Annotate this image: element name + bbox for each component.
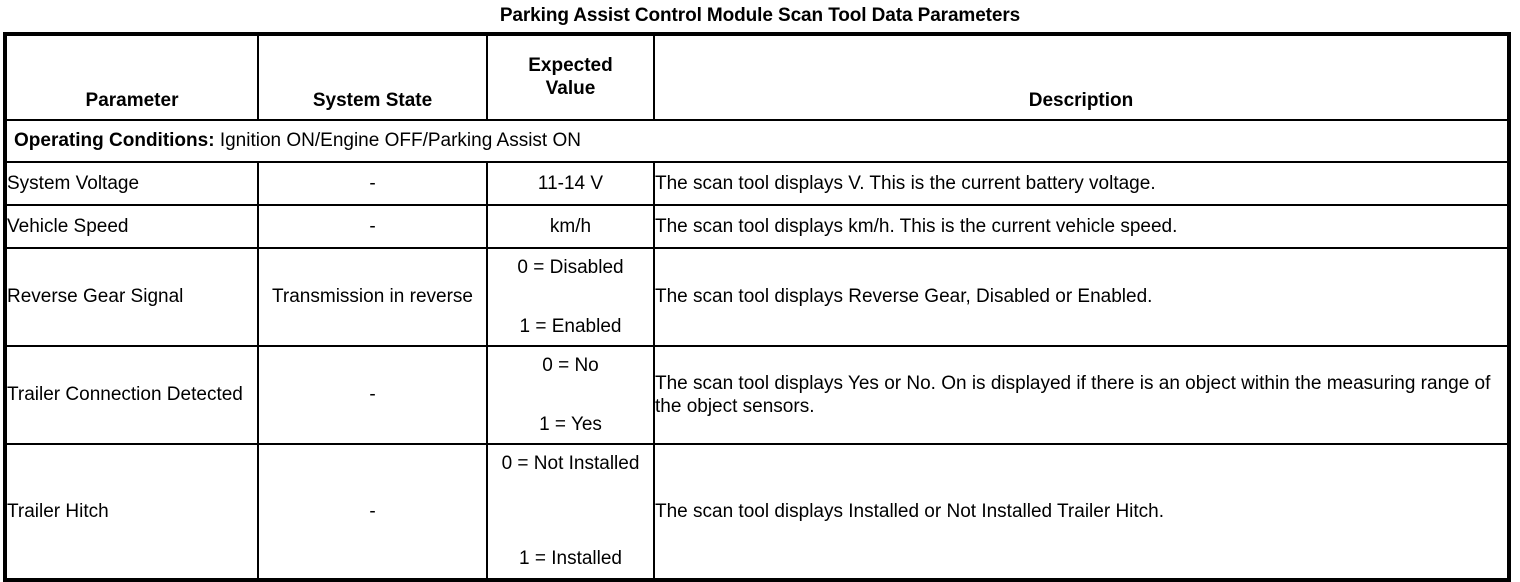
row-expected-value: 0 = Disabled 1 = Enabled (487, 248, 654, 346)
row-parameter: System Voltage (5, 162, 258, 205)
row-parameter: Trailer Hitch (5, 444, 258, 580)
scan-tool-data-parameters-table: Parameter System State Expected Value De… (3, 32, 1511, 582)
row-expected-value: 11-14 V (487, 162, 654, 205)
column-header-expected-value: Expected Value (487, 34, 654, 120)
row-expected-value-bottom: 1 = Yes (490, 413, 651, 436)
row-expected-value-top: 0 = No (490, 354, 651, 377)
row-expected-value: 0 = Not Installed 1 = Installed (487, 444, 654, 580)
row-expected-value-bottom: 1 = Installed (490, 547, 651, 570)
table-header-row: Parameter System State Expected Value De… (5, 34, 1509, 120)
column-header-parameter: Parameter (5, 34, 258, 120)
table-row: Trailer Hitch - 0 = Not Installed 1 = In… (5, 444, 1509, 580)
table-row: Trailer Connection Detected - 0 = No 1 =… (5, 346, 1509, 444)
row-system-state: - (258, 346, 487, 444)
table-row: System Voltage - 11-14 V The scan tool d… (5, 162, 1509, 205)
row-system-state: Transmission in reverse (258, 248, 487, 346)
row-expected-value: 0 = No 1 = Yes (487, 346, 654, 444)
row-expected-value-top: 0 = Not Installed (490, 452, 651, 475)
operating-conditions-cell: Operating Conditions: Ignition ON/Engine… (5, 120, 1509, 162)
document-page: Parking Assist Control Module Scan Tool … (0, 0, 1520, 574)
row-expected-value-bottom: 1 = Enabled (490, 315, 651, 338)
row-parameter: Reverse Gear Signal (5, 248, 258, 346)
row-description: The scan tool displays Installed or Not … (654, 444, 1509, 580)
row-expected-value: km/h (487, 205, 654, 248)
column-header-system-state: System State (258, 34, 487, 120)
operating-conditions-row: Operating Conditions: Ignition ON/Engine… (5, 120, 1509, 162)
row-system-state: - (258, 205, 487, 248)
row-expected-value-top: 0 = Disabled (490, 256, 651, 279)
table-row: Reverse Gear Signal Transmission in reve… (5, 248, 1509, 346)
row-description: The scan tool displays km/h. This is the… (654, 205, 1509, 248)
page-title: Parking Assist Control Module Scan Tool … (0, 0, 1520, 25)
column-header-expected-value-line1: Expected (528, 55, 612, 76)
row-description: The scan tool displays Reverse Gear, Dis… (654, 248, 1509, 346)
row-description: The scan tool displays Yes or No. On is … (654, 346, 1509, 444)
operating-conditions-value: Ignition ON/Engine OFF/Parking Assist ON (220, 130, 581, 151)
table-row: Vehicle Speed - km/h The scan tool displ… (5, 205, 1509, 248)
column-header-description: Description (654, 34, 1509, 120)
row-system-state: - (258, 162, 487, 205)
row-parameter: Vehicle Speed (5, 205, 258, 248)
row-parameter: Trailer Connection Detected (5, 346, 258, 444)
row-system-state: - (258, 444, 487, 580)
row-description: The scan tool displays V. This is the cu… (654, 162, 1509, 205)
operating-conditions-label: Operating Conditions: (14, 130, 215, 151)
column-header-expected-value-line2: Value (546, 78, 596, 99)
